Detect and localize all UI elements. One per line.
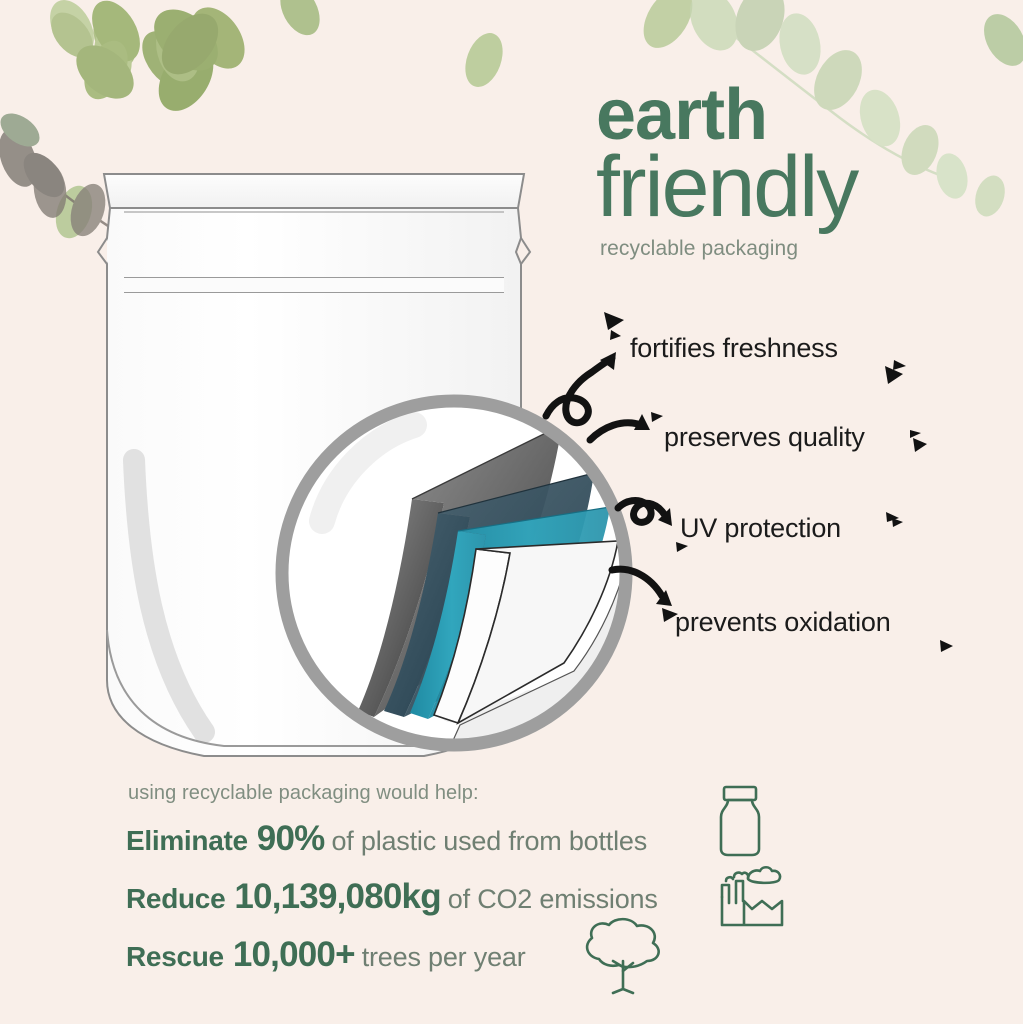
- leaf-icon: [180, 0, 255, 78]
- stats-intro: using recyclable packaging would help:: [128, 782, 746, 805]
- poster-canvas: earth friendly recyclable packaging fort…: [0, 0, 1023, 1024]
- smoke-puff: [726, 877, 733, 881]
- leaf-icon: [634, 0, 703, 57]
- stat-tail: trees per year: [362, 942, 526, 973]
- bottle-cap: [724, 787, 756, 800]
- headline-block: earth friendly recyclable packaging: [596, 82, 1016, 261]
- leaf-icon: [142, 0, 229, 83]
- spark-icon: [910, 430, 921, 438]
- leaf-icon: [89, 23, 137, 89]
- smoke-puff: [734, 873, 748, 878]
- stat-verb: Eliminate: [126, 825, 248, 857]
- spark-icon: [885, 366, 903, 384]
- spark-icon: [651, 412, 663, 422]
- headline-line-friendly: friendly: [596, 148, 1016, 227]
- leaf-icon: [41, 0, 103, 63]
- leaf-icon: [147, 35, 224, 120]
- leaf-icon: [82, 0, 150, 70]
- stat-verb: Rescue: [126, 941, 224, 973]
- leaf-icon: [86, 2, 145, 74]
- leaf-icon: [272, 0, 327, 42]
- factory-building: [722, 897, 782, 925]
- bottle-icon: [712, 783, 768, 859]
- stat-tail: of plastic used from bottles: [331, 826, 647, 857]
- stat-verb: Reduce: [126, 883, 225, 915]
- pouch-notch-right: [521, 238, 530, 264]
- leaf-icon: [43, 5, 101, 65]
- feature-label-fortifies-freshness: fortifies freshness: [630, 333, 838, 364]
- headline-subtitle: recyclable packaging: [600, 237, 1016, 261]
- factory-icon: [714, 863, 788, 931]
- leaf-icon: [132, 22, 204, 99]
- arrowhead-fortifies-freshness: [600, 352, 616, 370]
- spark-icon: [893, 360, 906, 370]
- tree-icon: [575, 915, 671, 997]
- arrowhead-uv-protection: [658, 508, 672, 526]
- leaf-icon: [458, 28, 509, 92]
- stat-number: 10,139,080kg: [234, 877, 440, 917]
- stat-row-reduce: Reduce 10,139,080kg of CO2 emissions: [126, 877, 746, 917]
- feature-label-preserves-quality: preserves quality: [664, 422, 865, 453]
- leaf-icon: [66, 35, 144, 110]
- stat-number: 90%: [257, 819, 325, 859]
- stat-row-eliminate: Eliminate 90% of plastic used from bottl…: [126, 819, 746, 859]
- bottle-body: [721, 800, 759, 855]
- leaf-icon: [975, 7, 1023, 73]
- leaf-icon: [151, 3, 230, 85]
- pouch-zipper-band: [124, 278, 504, 292]
- pouch-notch-left: [98, 238, 107, 264]
- spark-icon: [886, 512, 899, 522]
- factory-stack-right: [736, 881, 743, 903]
- spark-icon: [940, 640, 953, 652]
- stat-tail: of CO2 emissions: [448, 884, 658, 915]
- stat-number: 10,000+: [233, 935, 355, 975]
- pouch-top-flap: [104, 174, 524, 208]
- magnifier-circle: [262, 381, 646, 765]
- spark-icon: [892, 518, 903, 527]
- arrowhead-prevents-oxidation: [656, 590, 672, 606]
- feature-label-prevents-oxidation: prevents oxidation: [675, 607, 891, 638]
- leaf-icon: [76, 34, 137, 106]
- spark-icon: [604, 312, 624, 330]
- smoke-cloud: [748, 867, 780, 883]
- leaf-icon: [149, 14, 206, 87]
- spark-icon: [913, 438, 927, 452]
- feature-label-uv-protection: UV protection: [680, 513, 841, 544]
- spark-icon: [610, 330, 621, 340]
